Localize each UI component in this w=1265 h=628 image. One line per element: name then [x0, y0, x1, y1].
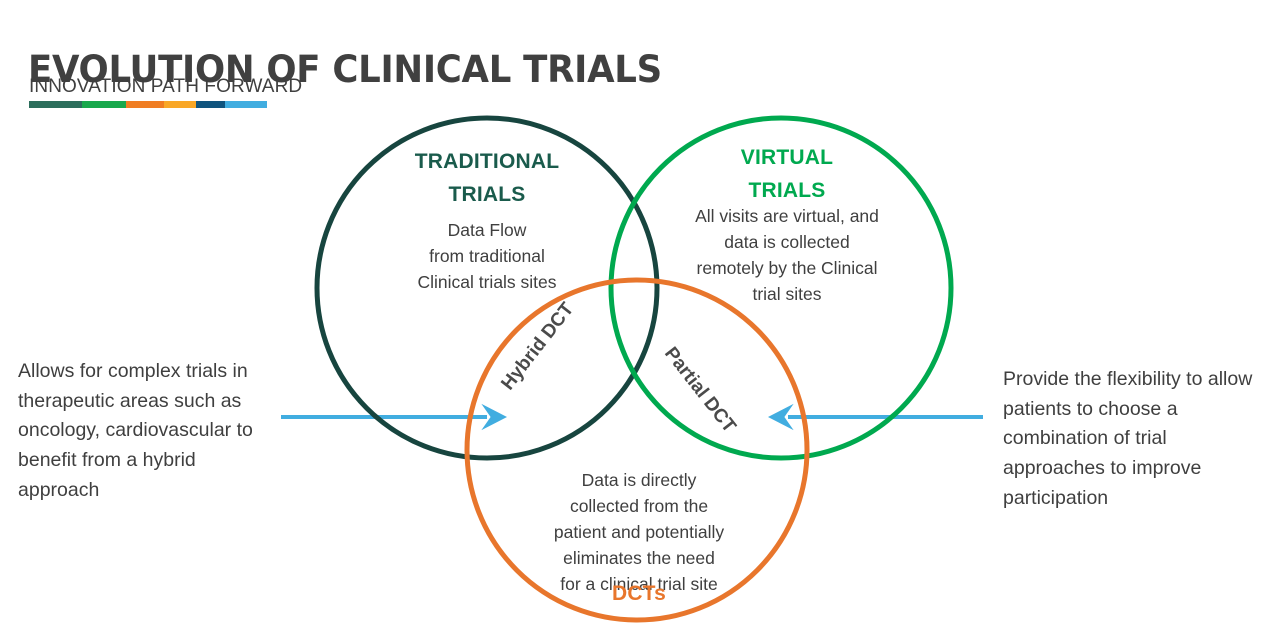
page-subtitle: INNOVATION PATH FORWARD: [29, 76, 302, 98]
virtual-heading-line-2: TRIALS: [680, 175, 894, 208]
slide-canvas: EVOLUTION OF CLINICAL TRIALS INNOVATION …: [0, 0, 1265, 628]
accent-rule-segment: [126, 101, 164, 108]
accent-rule: [29, 101, 267, 108]
callout-right: Provide the flexibility to allow patient…: [1003, 365, 1261, 513]
traditional-body-line-2: from traditional: [377, 244, 597, 270]
dcts-body-line-1: Data is directly: [528, 468, 750, 494]
virtual-heading-line-1: VIRTUAL: [680, 142, 894, 175]
accent-rule-segment: [164, 101, 195, 108]
traditional-trials-body: Data Flow from traditional Clinical tria…: [377, 218, 597, 296]
virtual-trials-body: All visits are virtual, and data is coll…: [664, 204, 910, 308]
virtual-body-line-1: All visits are virtual, and: [664, 204, 910, 230]
overlap-label-hybrid-dct: Hybrid DCT: [497, 299, 579, 395]
accent-rule-segment: [225, 101, 267, 108]
virtual-body-line-4: trial sites: [664, 282, 910, 308]
dcts-body-line-4: eliminates the need: [528, 546, 750, 572]
accent-rule-segment: [82, 101, 126, 108]
virtual-body-line-3: remotely by the Clinical: [664, 256, 910, 282]
overlap-label-partial-dct: Partial DCT: [659, 343, 739, 437]
virtual-trials-heading: VIRTUAL TRIALS: [680, 142, 894, 207]
virtual-body-line-2: data is collected: [664, 230, 910, 256]
traditional-body-line-1: Data Flow: [377, 218, 597, 244]
traditional-body-line-3: Clinical trials sites: [377, 270, 597, 296]
accent-rule-segment: [29, 101, 82, 108]
dcts-heading: DCTs: [528, 578, 750, 611]
traditional-heading-line-1: TRADITIONAL: [377, 146, 597, 179]
dcts-body-line-2: collected from the: [528, 494, 750, 520]
traditional-trials-heading: TRADITIONAL TRIALS: [377, 146, 597, 211]
traditional-heading-line-2: TRIALS: [377, 179, 597, 212]
callout-left: Allows for complex trials in therapeutic…: [18, 357, 280, 505]
accent-rule-segment: [196, 101, 225, 108]
dcts-body-line-3: patient and potentially: [528, 520, 750, 546]
